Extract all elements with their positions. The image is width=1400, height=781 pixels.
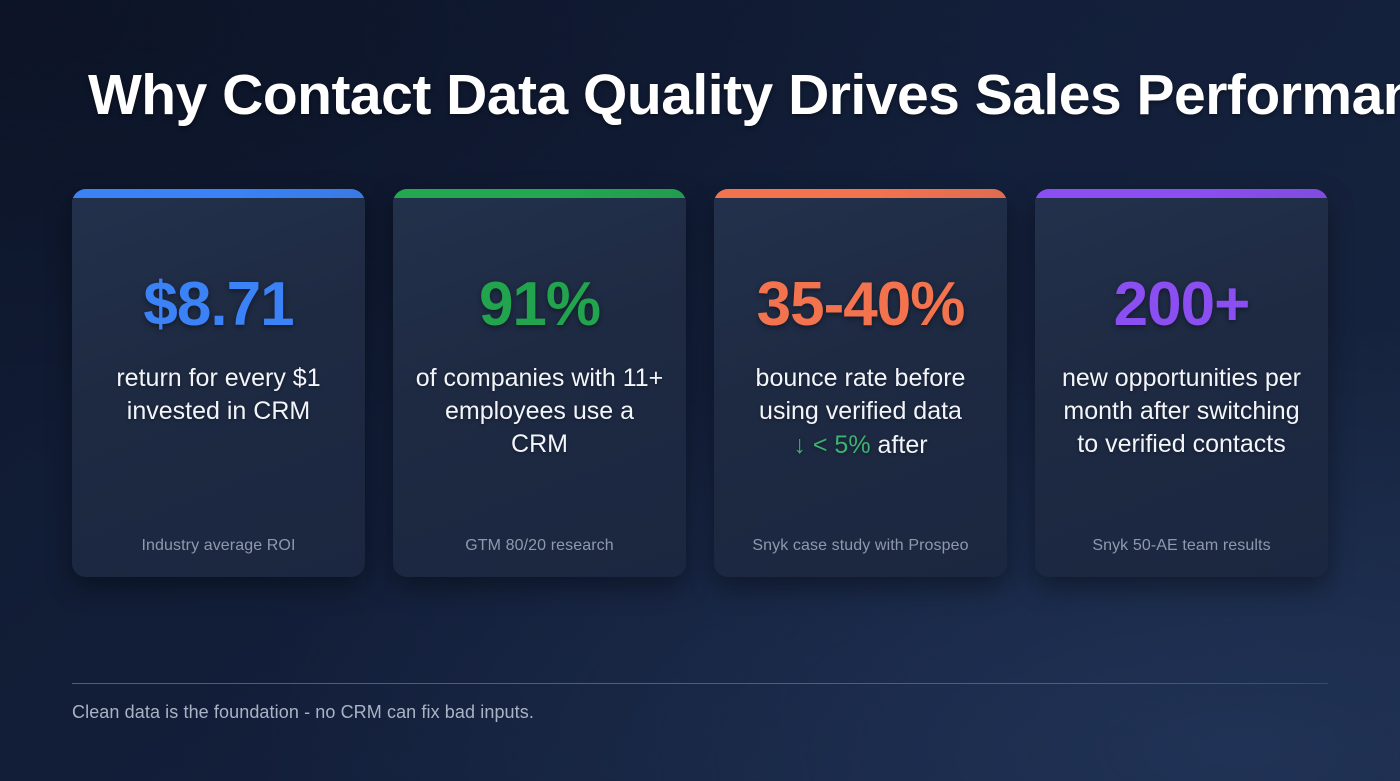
divider: [72, 683, 1328, 684]
stat-card[interactable]: $8.71 return for every $1 invested in CR…: [72, 189, 365, 577]
card-accent-bar: [72, 189, 365, 198]
footer: Clean data is the foundation - no CRM ca…: [72, 683, 1328, 723]
stat-label-text: bounce rate before using verified data: [756, 364, 966, 425]
card-accent-bar: [393, 189, 686, 198]
stat-source: Industry average ROI: [141, 537, 295, 555]
stat-improvement: ↓ < 5% after: [736, 429, 985, 462]
arrow-down-icon: ↓: [793, 431, 806, 459]
footer-note: Clean data is the foundation - no CRM ca…: [72, 702, 1328, 723]
stat-improvement-tail: after: [878, 431, 928, 459]
stat-source: Snyk 50-AE team results: [1092, 537, 1270, 555]
stat-label: bounce rate before using verified data↓ …: [736, 362, 985, 462]
stat-card[interactable]: 91% of companies with 11+ employees use …: [393, 189, 686, 577]
card-accent-bar: [714, 189, 1007, 198]
page-title: Why Contact Data Quality Drives Sales Pe…: [88, 66, 1328, 126]
stat-label: return for every $1 invested in CRM: [94, 362, 343, 428]
stat-card[interactable]: 35-40% bounce rate before using verified…: [714, 189, 1007, 577]
stat-value: $8.71: [143, 274, 293, 336]
stat-improvement-value: < 5%: [813, 431, 871, 459]
stat-label: of companies with 11+ employees use a CR…: [415, 362, 664, 461]
stat-source: GTM 80/20 research: [465, 537, 614, 555]
card-accent-bar: [1035, 189, 1328, 198]
stat-value: 91%: [479, 274, 600, 336]
stat-card-list: $8.71 return for every $1 invested in CR…: [72, 189, 1328, 577]
slide-root: Why Contact Data Quality Drives Sales Pe…: [0, 0, 1400, 781]
stat-source: Snyk case study with Prospeo: [752, 537, 968, 555]
stat-card[interactable]: 200+ new opportunities per month after s…: [1035, 189, 1328, 577]
stat-value: 200+: [1114, 274, 1250, 336]
stat-label: new opportunities per month after switch…: [1057, 362, 1306, 461]
stat-value: 35-40%: [757, 274, 965, 336]
